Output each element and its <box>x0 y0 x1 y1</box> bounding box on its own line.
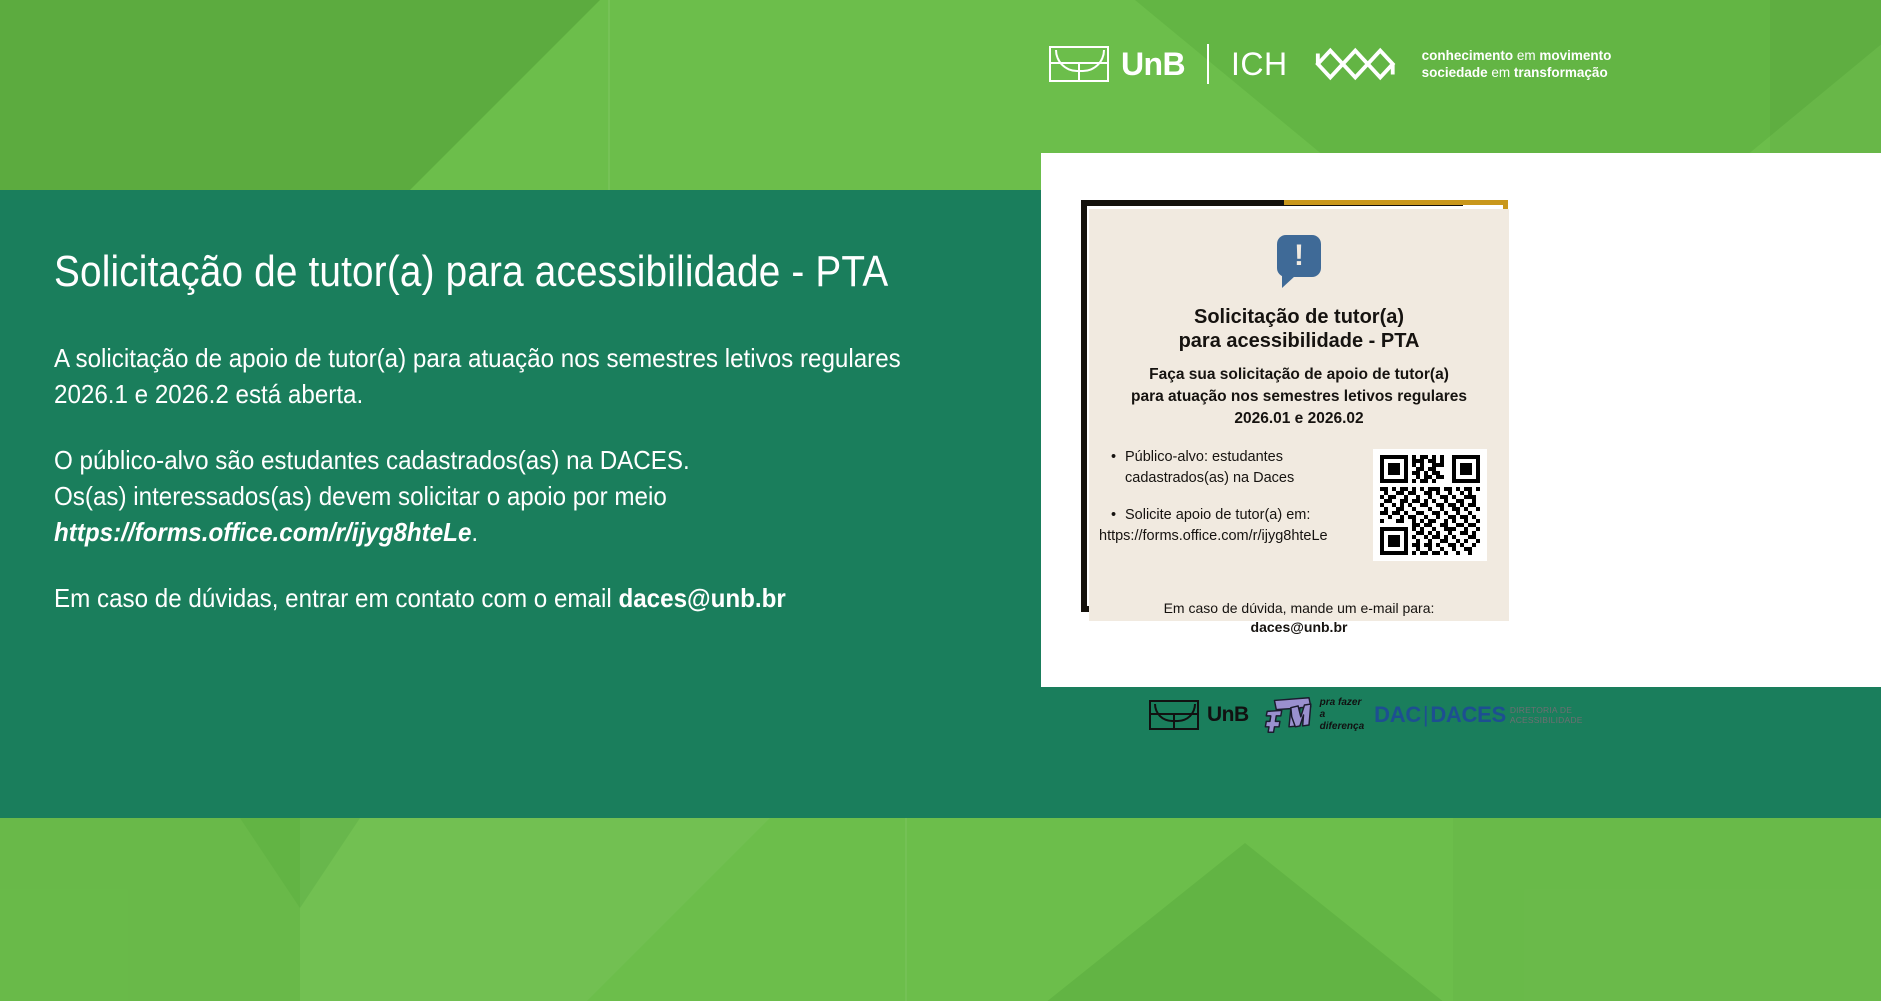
paragraph-3: Em caso de dúvidas, entrar em contato co… <box>54 580 1124 616</box>
poster-subtitle: Faça sua solicitação de apoio de tutor(a… <box>1089 364 1509 430</box>
bullet-1-line-2: cadastrados(as) na Daces <box>1125 470 1294 486</box>
daces-sub-line-1: DIRETORIA DE <box>1510 705 1583 715</box>
decor-seam <box>608 0 610 190</box>
qr-code-icon[interactable] <box>1373 449 1487 561</box>
list-item: • Público-alvo: estudantes cadastrados(a… <box>1111 447 1361 489</box>
forms-url-link[interactable]: https://forms.office.com/r/ijyg8hteLe <box>54 517 471 547</box>
daces-subtitle: DIRETORIA DE ACESSIBILIDADE <box>1510 705 1583 725</box>
poster-footer: Em caso de dúvida, mande um e-mail para:… <box>1089 599 1509 637</box>
header-divider <box>1207 44 1209 84</box>
exclamation-glyph: ! <box>1277 235 1321 277</box>
unb-logo-icon <box>1049 46 1109 82</box>
poster-title-line-1: Solicitação de tutor(a) <box>1089 305 1509 329</box>
dac-label: DAC <box>1374 702 1421 727</box>
poster-logo-strip: UnB pra fazer a diferença DAC|DACES <box>1149 694 1549 736</box>
p3-prefix: Em caso de dúvidas, entrar em contato co… <box>54 583 618 613</box>
bottom-green-band <box>0 818 1881 1001</box>
ich-wordmark: ICH <box>1231 46 1288 83</box>
p1-line-1: A solicitação de apoio de tutor(a) para … <box>54 343 901 373</box>
unb-wordmark: UnB <box>1207 703 1249 727</box>
bubble-shape: ! <box>1277 235 1321 277</box>
poster-panel: ! Solicitação de tutor(a) para acessibil… <box>1089 209 1509 621</box>
slogan-1a: conhecimento <box>1422 48 1514 63</box>
bullet-marker: • <box>1111 447 1125 468</box>
bullet-2-url[interactable]: https://forms.office.com/r/ijyg8hteLe <box>1099 528 1328 544</box>
bullet-marker: • <box>1111 505 1125 526</box>
contact-email[interactable]: daces@unb.br <box>618 583 785 613</box>
poster-subtitle-line-1: Faça sua solicitação de apoio de tutor(a… <box>1089 364 1509 386</box>
p2-line-1: O público-alvo são estudantes cadastrado… <box>54 445 690 475</box>
poster-page: UnB ICH conhecimento em movimento socied… <box>0 0 1881 1001</box>
poster-subtitle-line-2: para atuação nos semestres letivos regul… <box>1089 386 1509 408</box>
p2-url-suffix: . <box>471 517 478 547</box>
ich-slogan: conhecimento em movimento sociedade em t… <box>1422 47 1612 81</box>
list-item: • Solicite apoio de tutor(a) em: https:/… <box>1111 505 1361 547</box>
decor-triangle-bottom-mid <box>300 818 770 1001</box>
page-title: Solicitação de tutor(a) para acessibilid… <box>54 247 888 297</box>
slogan-2b: em <box>1491 65 1510 80</box>
poster-footer-email[interactable]: daces@unb.br <box>1251 619 1348 635</box>
poster-title: Solicitação de tutor(a) para acessibilid… <box>1089 305 1509 353</box>
slogan-2c: transformação <box>1514 65 1608 80</box>
unb-wordmark: UnB <box>1121 46 1185 83</box>
paragraph-1: A solicitação de apoio de tutor(a) para … <box>54 340 1124 412</box>
poster-bullet-list: • Público-alvo: estudantes cadastrados(a… <box>1111 447 1361 547</box>
ich-ribbon-icon <box>1314 40 1410 88</box>
dac-daces-wordmark: DAC|DACES <box>1374 702 1506 728</box>
exclamation-speech-bubble-icon: ! <box>1277 235 1321 277</box>
daces-sub-line-2: ACESSIBILIDADE <box>1510 715 1583 725</box>
tmj-tagline-line-1: pra fazer <box>1320 697 1364 709</box>
slogan-1b: em <box>1517 48 1536 63</box>
bullet-2-line-1: Solicite apoio de tutor(a) em: <box>1125 505 1310 526</box>
poster-card: ! Solicitação de tutor(a) para acessibil… <box>1041 153 1881 687</box>
unb-logo-icon <box>1149 700 1199 730</box>
unb-bowl-shape <box>1154 704 1196 722</box>
poster-footer-line: Em caso de dúvida, mande um e-mail para: <box>1089 599 1509 618</box>
tmj-tagline-line-2: a diferença <box>1320 709 1364 733</box>
unb-bowl-shape <box>1055 50 1105 72</box>
dac-divider: | <box>1421 702 1430 727</box>
poster-title-line-2: para acessibilidade - PTA <box>1089 329 1509 353</box>
decor-triangle-top-left <box>0 0 600 190</box>
tmj-hashtag-logo-icon <box>1263 695 1315 735</box>
decor-seam-bottom <box>905 818 907 1001</box>
bullet-1-line-1: Público-alvo: estudantes <box>1125 447 1283 468</box>
daces-label: DACES <box>1430 702 1506 727</box>
paragraph-2: O público-alvo são estudantes cadastrado… <box>54 442 1124 550</box>
p1-line-2: 2026.1 e 2026.2 está aberta. <box>54 379 363 409</box>
banner-body: A solicitação de apoio de tutor(a) para … <box>54 340 1124 616</box>
slogan-2a: sociedade <box>1422 65 1488 80</box>
tmj-tagline: pra fazer a diferença <box>1320 697 1364 733</box>
p2-line-2: Os(as) interessados(as) devem solicitar … <box>54 481 667 511</box>
slogan-1c: movimento <box>1539 48 1611 63</box>
decor-triangle-bottom-right <box>1045 843 1445 1001</box>
poster-subtitle-line-3: 2026.01 e 2026.02 <box>1089 408 1509 430</box>
decor-panel-bottom-right <box>1453 818 1881 1001</box>
header-logos: UnB ICH conhecimento em movimento socied… <box>1049 38 1611 90</box>
